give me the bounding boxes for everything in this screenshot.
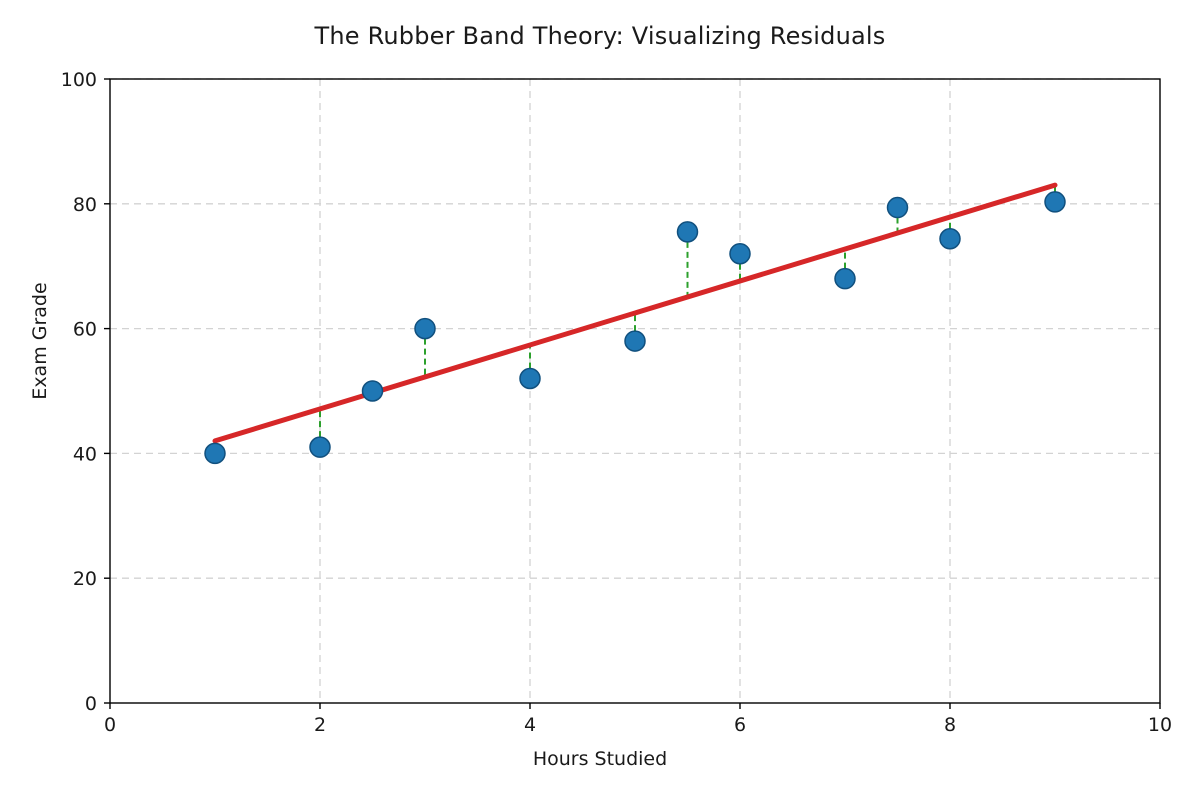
y-tick-label: 100	[61, 69, 97, 91]
data-point	[1045, 192, 1065, 212]
x-tick-label: 4	[524, 714, 536, 736]
y-tick-label: 60	[73, 319, 97, 341]
data-point	[415, 319, 435, 339]
y-tick-label: 40	[73, 443, 97, 465]
data-point	[520, 369, 540, 389]
data-point	[205, 443, 225, 463]
x-tick-label: 2	[314, 714, 326, 736]
data-point	[888, 198, 908, 218]
x-tick-label: 8	[944, 714, 956, 736]
y-tick-label: 0	[85, 693, 97, 715]
axis-tick-labels-group: 0204060801000246810	[61, 69, 1172, 736]
data-point	[625, 331, 645, 351]
data-point	[310, 437, 330, 457]
scatter-plot-area: 0204060801000246810	[0, 0, 1200, 792]
x-tick-label: 0	[104, 714, 116, 736]
axes-frame	[110, 79, 1160, 703]
y-tick-label: 80	[73, 194, 97, 216]
x-tick-label: 10	[1148, 714, 1172, 736]
x-tick-label: 6	[734, 714, 746, 736]
axis-ticks-group	[104, 79, 1160, 709]
data-point	[940, 229, 960, 249]
figure-canvas: The Rubber Band Theory: Visualizing Resi…	[0, 0, 1200, 792]
plot-border	[110, 79, 1160, 703]
data-point	[730, 244, 750, 264]
regression-line	[215, 185, 1055, 441]
y-tick-label: 20	[73, 568, 97, 590]
data-point	[678, 222, 698, 242]
x-axis-label: Hours Studied	[0, 748, 1200, 770]
data-point	[835, 269, 855, 289]
y-axis-label: Exam Grade	[29, 231, 51, 451]
data-point	[363, 381, 383, 401]
gridlines-group	[110, 79, 1160, 703]
regression-line-group	[215, 185, 1055, 441]
